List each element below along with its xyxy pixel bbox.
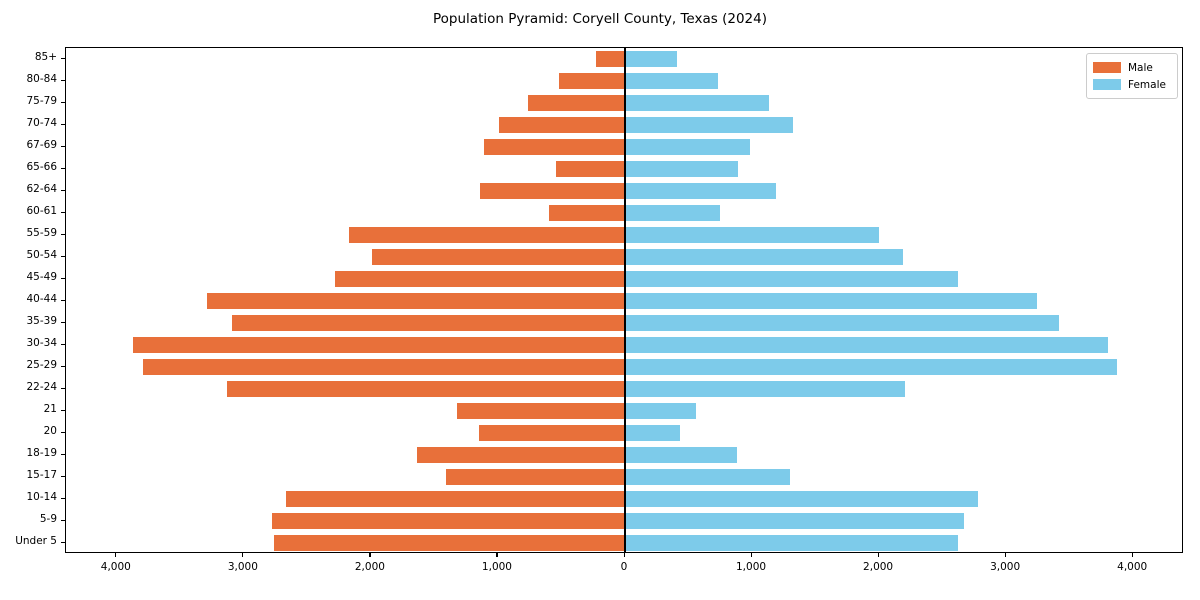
- y-tick-mark: [61, 388, 65, 389]
- x-tick-label: 3,000: [228, 561, 258, 573]
- y-tick-label: 75-79: [0, 95, 57, 107]
- x-tick-label: 4,000: [1117, 561, 1147, 573]
- bar-female: [625, 491, 978, 507]
- legend-item[interactable]: Male: [1093, 59, 1171, 76]
- bar-female: [625, 249, 903, 265]
- bar-male: [417, 447, 625, 463]
- y-tick-mark: [61, 454, 65, 455]
- plot-area: [65, 47, 1183, 553]
- bar-female: [625, 183, 776, 199]
- bar-female: [625, 293, 1037, 309]
- bar-female: [625, 337, 1108, 353]
- bar-male: [227, 381, 625, 397]
- y-tick-label: 21: [0, 403, 57, 415]
- bar-male: [372, 249, 625, 265]
- x-tick-mark: [496, 553, 497, 557]
- y-tick-label: 85+: [0, 51, 57, 63]
- y-tick-label: 10-14: [0, 491, 57, 503]
- bar-male: [549, 205, 625, 221]
- y-tick-mark: [61, 80, 65, 81]
- y-tick-label: 50-54: [0, 249, 57, 261]
- y-tick-mark: [61, 476, 65, 477]
- x-tick-mark: [878, 553, 879, 557]
- y-tick-mark: [61, 190, 65, 191]
- bar-male: [596, 51, 625, 67]
- zero-axis-line: [624, 48, 625, 552]
- bar-male: [274, 535, 625, 551]
- y-tick-mark: [61, 344, 65, 345]
- x-tick-mark: [369, 553, 370, 557]
- x-tick-mark: [751, 553, 752, 557]
- x-tick-label: 3,000: [990, 561, 1020, 573]
- y-tick-label: Under 5: [0, 535, 57, 547]
- y-tick-mark: [61, 212, 65, 213]
- y-tick-mark: [61, 234, 65, 235]
- y-tick-label: 22-24: [0, 381, 57, 393]
- chart-legend: MaleFemale: [1086, 53, 1178, 99]
- y-tick-label: 55-59: [0, 227, 57, 239]
- bar-male: [479, 425, 625, 441]
- bar-female: [625, 95, 769, 111]
- x-tick-label: 1,000: [736, 561, 766, 573]
- bar-female: [625, 315, 1059, 331]
- y-tick-mark: [61, 102, 65, 103]
- bar-female: [625, 425, 680, 441]
- y-tick-mark: [61, 366, 65, 367]
- bar-female: [625, 205, 720, 221]
- chart-title: Population Pyramid: Coryell County, Texa…: [0, 11, 1200, 27]
- x-tick-mark: [1005, 553, 1006, 557]
- y-tick-mark: [61, 256, 65, 257]
- y-tick-mark: [61, 520, 65, 521]
- y-tick-mark: [61, 278, 65, 279]
- figure-canvas: Population Pyramid: Coryell County, Texa…: [0, 0, 1200, 600]
- y-tick-mark: [61, 300, 65, 301]
- x-tick-label: 4,000: [101, 561, 131, 573]
- bar-female: [625, 139, 750, 155]
- x-tick-mark: [1132, 553, 1133, 557]
- y-tick-mark: [61, 124, 65, 125]
- y-tick-mark: [61, 58, 65, 59]
- x-tick-mark: [115, 553, 116, 557]
- y-tick-label: 65-66: [0, 161, 57, 173]
- y-tick-label: 60-61: [0, 205, 57, 217]
- x-tick-mark: [624, 553, 625, 557]
- bar-male: [480, 183, 625, 199]
- y-tick-label: 18-19: [0, 447, 57, 459]
- y-tick-mark: [61, 146, 65, 147]
- y-tick-mark: [61, 322, 65, 323]
- bar-male: [559, 73, 625, 89]
- bar-female: [625, 381, 905, 397]
- y-tick-label: 45-49: [0, 271, 57, 283]
- y-tick-mark: [61, 410, 65, 411]
- y-tick-label: 15-17: [0, 469, 57, 481]
- legend-label: Male: [1128, 62, 1153, 74]
- y-tick-label: 62-64: [0, 183, 57, 195]
- bar-female: [625, 403, 696, 419]
- y-tick-label: 70-74: [0, 117, 57, 129]
- x-tick-label: 0: [621, 561, 628, 573]
- x-tick-label: 2,000: [355, 561, 385, 573]
- bar-female: [625, 513, 964, 529]
- bar-male: [457, 403, 625, 419]
- x-tick-label: 1,000: [482, 561, 512, 573]
- bar-male: [349, 227, 625, 243]
- bar-female: [625, 117, 793, 133]
- bar-female: [625, 227, 879, 243]
- bar-female: [625, 51, 677, 67]
- bar-male: [556, 161, 625, 177]
- bar-female: [625, 73, 718, 89]
- y-tick-mark: [61, 498, 65, 499]
- bar-male: [446, 469, 625, 485]
- bar-male: [232, 315, 625, 331]
- bar-female: [625, 359, 1117, 375]
- bar-male: [143, 359, 625, 375]
- y-tick-label: 80-84: [0, 73, 57, 85]
- legend-item[interactable]: Female: [1093, 76, 1171, 93]
- bar-female: [625, 447, 737, 463]
- legend-label: Female: [1128, 79, 1166, 91]
- bar-male: [207, 293, 625, 309]
- bar-female: [625, 271, 958, 287]
- y-tick-label: 25-29: [0, 359, 57, 371]
- y-tick-label: 67-69: [0, 139, 57, 151]
- x-tick-mark: [242, 553, 243, 557]
- bar-male: [286, 491, 625, 507]
- legend-swatch-female: [1093, 79, 1121, 90]
- bar-male: [133, 337, 625, 353]
- bar-male: [484, 139, 625, 155]
- y-tick-label: 30-34: [0, 337, 57, 349]
- bar-male: [528, 95, 625, 111]
- y-tick-mark: [61, 432, 65, 433]
- legend-swatch-male: [1093, 62, 1121, 73]
- bar-male: [335, 271, 625, 287]
- y-tick-mark: [61, 168, 65, 169]
- y-tick-label: 20: [0, 425, 57, 437]
- x-tick-label: 2,000: [863, 561, 893, 573]
- y-tick-label: 35-39: [0, 315, 57, 327]
- y-tick-label: 5-9: [0, 513, 57, 525]
- bar-female: [625, 535, 958, 551]
- bar-male: [499, 117, 625, 133]
- bar-male: [272, 513, 625, 529]
- bar-female: [625, 469, 790, 485]
- y-tick-label: 40-44: [0, 293, 57, 305]
- bar-female: [625, 161, 738, 177]
- y-tick-mark: [61, 542, 65, 543]
